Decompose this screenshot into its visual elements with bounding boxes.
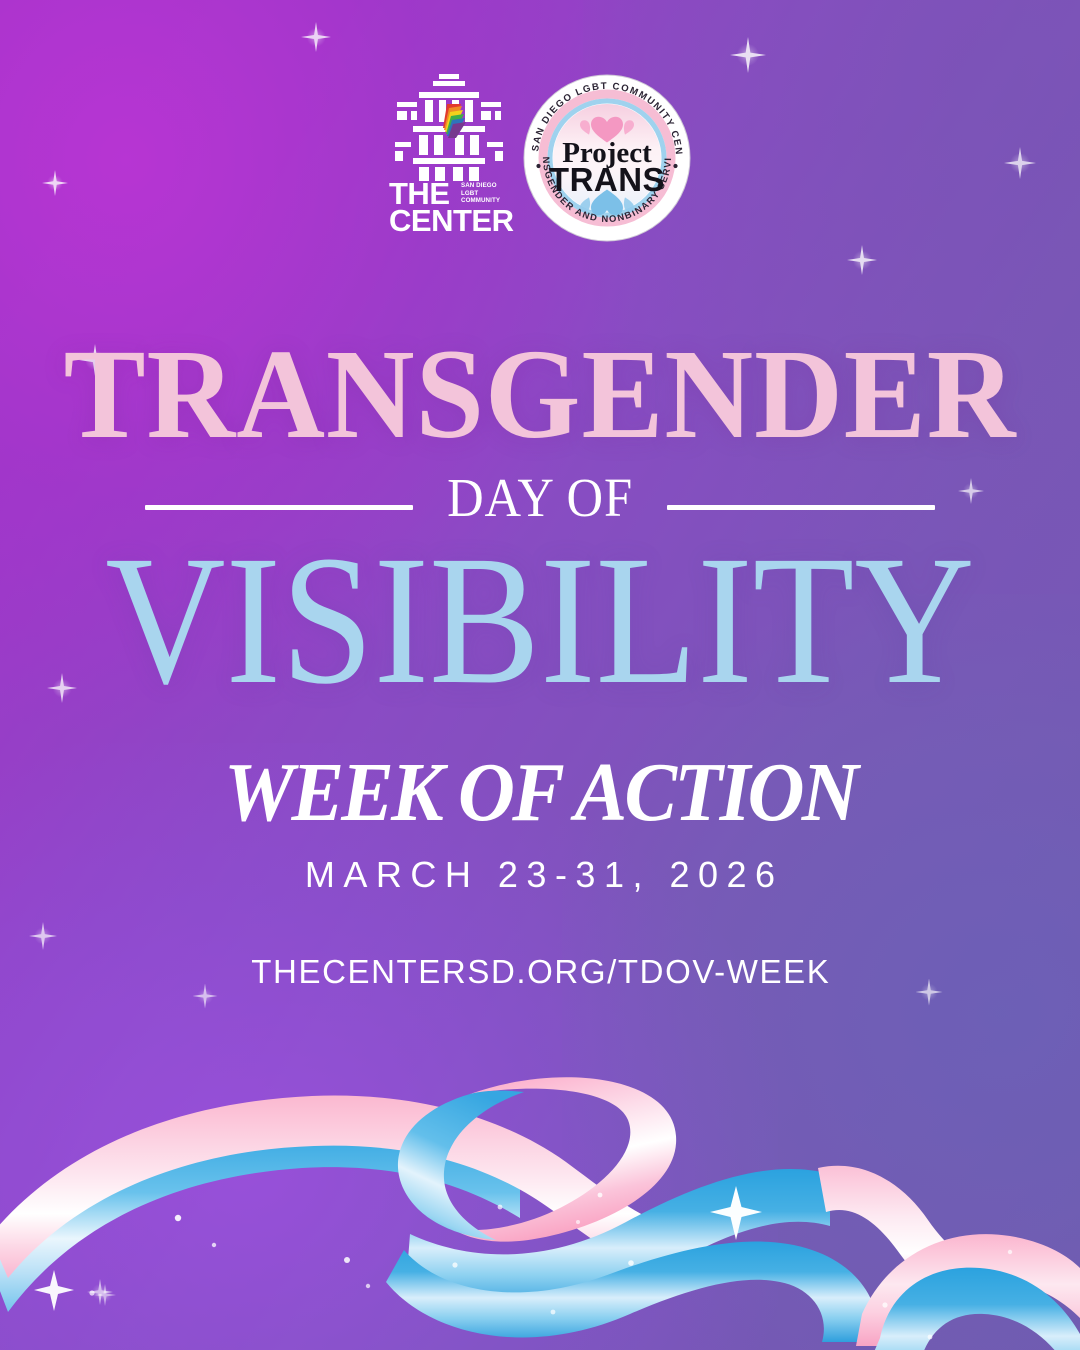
headline-visibility: VISIBILITY [54, 545, 1026, 697]
headline-block: TRANSGENDER DAY OF VISIBILITY WEEK OF AC… [0, 330, 1080, 988]
divider-rule-left [145, 505, 413, 510]
seal-center-line2: TRANS [549, 161, 665, 198]
logo-row: THE CENTER SAN DIEGO LGBT COMMUNITY [0, 72, 1080, 244]
the-center-wordmark: THE CENTER SAN DIEGO LGBT COMMUNITY [389, 180, 509, 235]
center-wordmark-sub: SAN DIEGO LGBT COMMUNITY [461, 182, 507, 205]
rainbow-flag-icon [443, 104, 466, 138]
subhead-dates: MARCH 23-31, 2026 [0, 857, 1080, 893]
subhead-week-of-action: WEEK OF ACTION [32, 751, 1047, 835]
center-building-icon [389, 72, 509, 184]
headline-day-of: DAY OF [447, 470, 633, 525]
the-center-logo[interactable]: THE CENTER SAN DIEGO LGBT COMMUNITY [389, 72, 509, 244]
headline-transgender: TRANSGENDER [22, 330, 1059, 458]
divider-rule-right [667, 505, 935, 510]
event-url[interactable]: THECENTERSD.ORG/TDOV-WEEK [0, 955, 1080, 988]
trans-pride-ribbon [0, 1050, 1080, 1350]
poster-canvas: THE CENTER SAN DIEGO LGBT COMMUNITY [0, 0, 1080, 1350]
project-trans-seal[interactable]: THE SAN DIEGO LGBT COMMUNITY CENTER TRAN… [523, 74, 691, 242]
center-wordmark-line2: CENTER [389, 207, 509, 234]
